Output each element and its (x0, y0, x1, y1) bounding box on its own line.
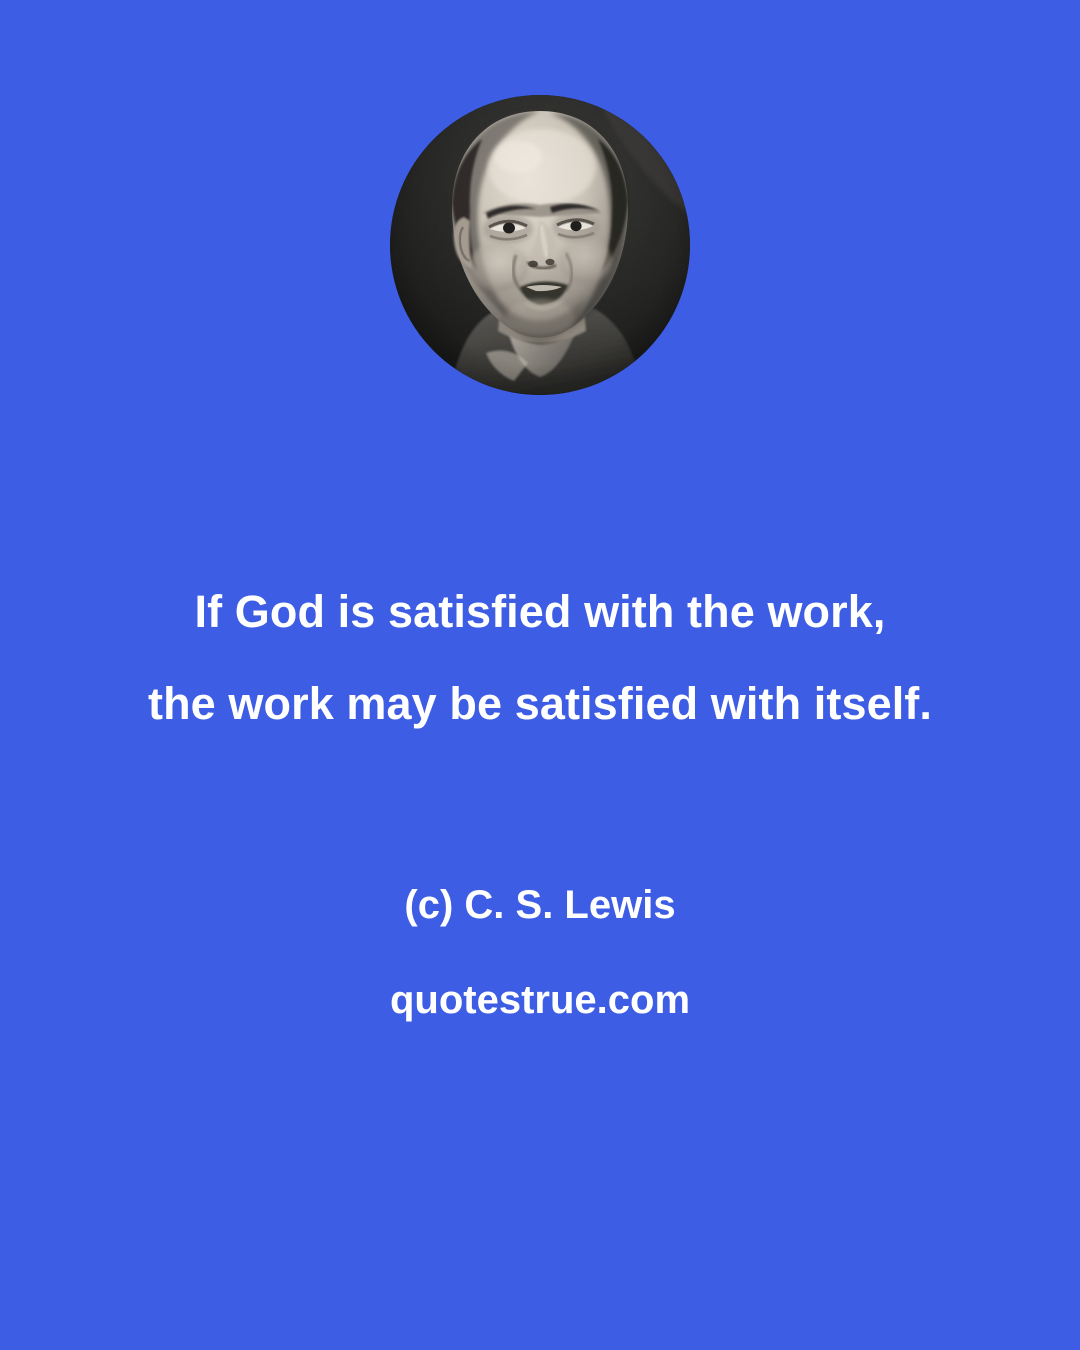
quote-attribution: (c) C. S. Lewis (0, 878, 1080, 932)
author-portrait-photo (390, 95, 690, 395)
author-portrait (390, 95, 690, 395)
quote-line-1: If God is satisfied with the work, (0, 566, 1080, 658)
quote-card: If God is satisfied with the work, the w… (0, 0, 1080, 1350)
site-watermark: quotestrue.com (0, 973, 1080, 1027)
quote-line-2: the work may be satisfied with itself. (0, 658, 1080, 750)
quote-text: If God is satisfied with the work, the w… (0, 566, 1080, 750)
